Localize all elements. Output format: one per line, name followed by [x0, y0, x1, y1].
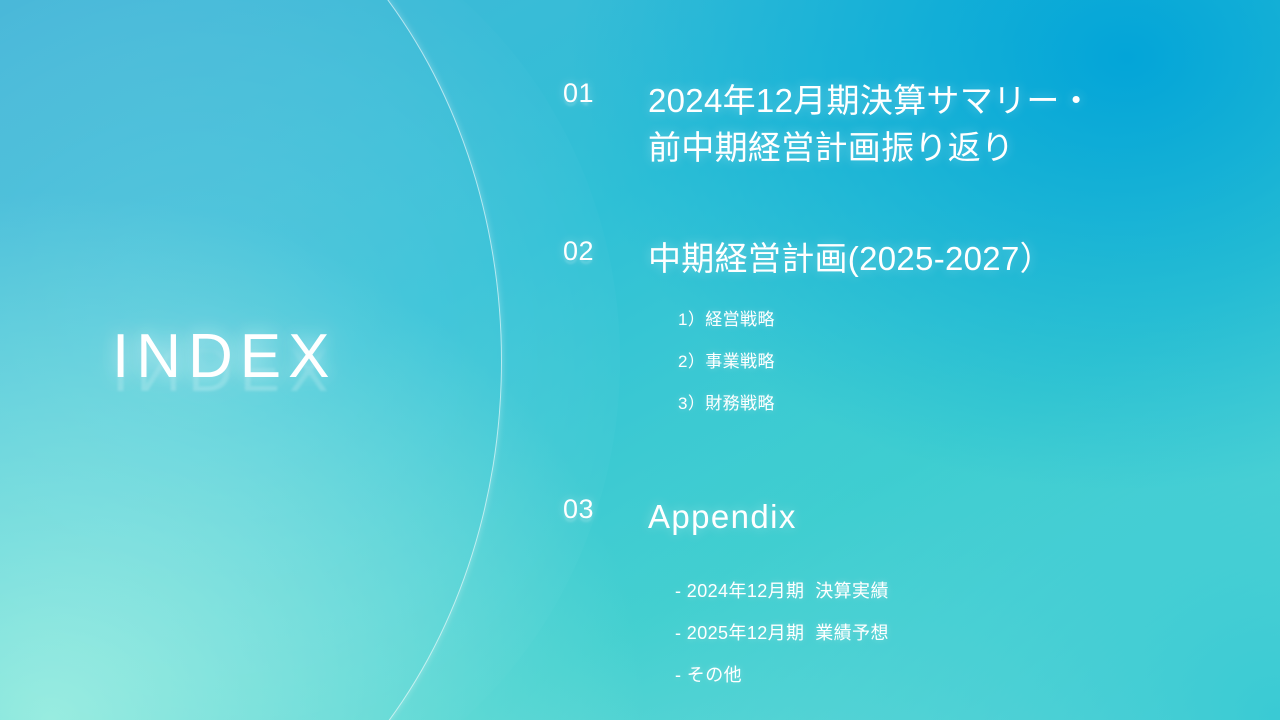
toc-section-01-title: 2024年12月期決算サマリー・ 前中期経営計画振り返り — [648, 78, 1093, 172]
table-of-contents: 01 01 2024年12月期決算サマリー・ 前中期経営計画振り返り 02 02… — [563, 78, 1263, 684]
page-title-reflection: INDEX — [112, 337, 542, 399]
toc-subitem[interactable]: 1）経営戦略 — [678, 311, 1263, 328]
toc-section-01-header: 01 01 2024年12月期決算サマリー・ 前中期経営計画振り返り — [563, 78, 1263, 172]
toc-section-01-title-line2: 前中期経営計画振り返り — [648, 125, 1093, 172]
toc-section-03-title-line1: Appendix — [648, 494, 797, 541]
toc-section-03[interactable]: 03 03 Appendix - 2024年12月期 決算実績 - 2025年1… — [563, 494, 1263, 683]
toc-section-01-title-line1: 2024年12月期決算サマリー・ — [648, 78, 1093, 125]
index-title-block: INDEX INDEX — [112, 326, 542, 516]
toc-section-03-header: 03 03 Appendix — [563, 494, 1263, 557]
toc-section-03-subitems: - 2024年12月期 決算実績 - 2025年12月期 業績予想 - その他 — [675, 582, 1263, 684]
toc-section-03-title: Appendix — [648, 494, 797, 541]
toc-section-02-title-line1: 中期経営計画(2025-2027） — [648, 236, 1053, 283]
toc-section-01[interactable]: 01 01 2024年12月期決算サマリー・ 前中期経営計画振り返り — [563, 78, 1263, 172]
toc-section-03-number-reflection: 03 — [563, 497, 648, 527]
toc-section-03-number-wrap: 03 03 — [563, 494, 648, 557]
toc-section-02-number-reflection: 02 — [563, 239, 648, 269]
toc-section-02-header: 02 02 中期経営計画(2025-2027） — [563, 236, 1263, 299]
toc-subitem[interactable]: 2）事業戦略 — [678, 353, 1263, 370]
toc-section-02[interactable]: 02 02 中期経営計画(2025-2027） 1）経営戦略 2）事業戦略 3）… — [563, 236, 1263, 412]
toc-section-02-title: 中期経営計画(2025-2027） — [648, 236, 1053, 283]
toc-section-02-subitems: 1）経営戦略 2）事業戦略 3）財務戦略 — [678, 311, 1263, 412]
toc-subitem[interactable]: - その他 — [675, 666, 1263, 684]
toc-subitem[interactable]: 3）財務戦略 — [678, 395, 1263, 412]
toc-subitem[interactable]: - 2025年12月期 業績予想 — [675, 624, 1263, 642]
toc-subitem[interactable]: - 2024年12月期 決算実績 — [675, 582, 1263, 600]
toc-section-01-number-wrap: 01 01 — [563, 78, 648, 141]
toc-section-01-number-reflection: 01 — [563, 81, 648, 111]
toc-section-02-number-wrap: 02 02 — [563, 236, 648, 299]
presentation-slide: INDEX INDEX 01 01 2024年12月期決算サマリー・ 前中期経営… — [0, 0, 1280, 720]
